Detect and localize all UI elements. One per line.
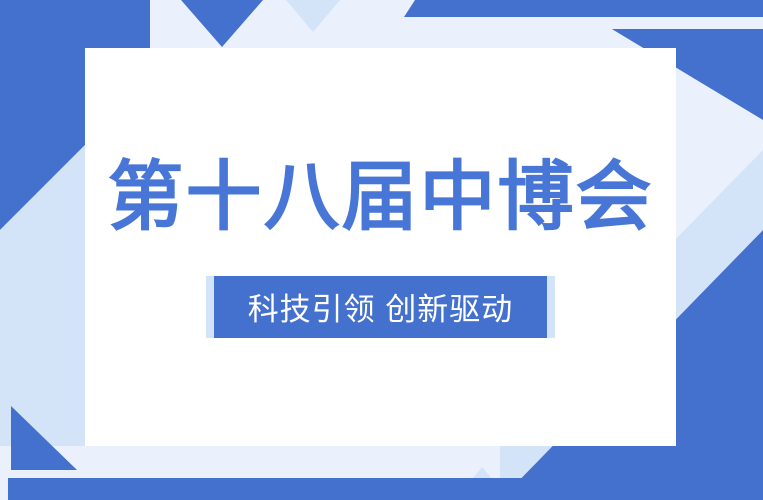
subtitle-cap-right — [547, 276, 555, 338]
top-triangle-dark — [181, 0, 263, 47]
poster-content: 第十八届中博会 科技引领 创新驱动 — [85, 48, 676, 446]
bottom-angled-bar — [8, 478, 560, 500]
bottom-triangle-light — [455, 467, 510, 500]
poster-title: 第十八届中博会 — [108, 156, 654, 240]
subtitle-bar: 科技引领 创新驱动 — [214, 276, 548, 338]
right-pale-column — [676, 29, 763, 446]
poster-subtitle-banner: 科技引领 创新驱动 — [206, 276, 556, 338]
bottom-pale-band — [0, 446, 500, 500]
top-pale-band — [150, 0, 763, 48]
poster-subtitle: 科技引领 创新驱动 — [248, 284, 514, 329]
poster-canvas: 第十八届中博会 科技引领 创新驱动 — [0, 0, 763, 500]
bottom-left-triangle — [11, 406, 77, 470]
top-right-blue-bar — [404, 0, 763, 17]
top-triangle-light — [286, 0, 340, 32]
bottom-triangle-dark — [500, 452, 620, 500]
subtitle-cap-left — [206, 276, 214, 338]
